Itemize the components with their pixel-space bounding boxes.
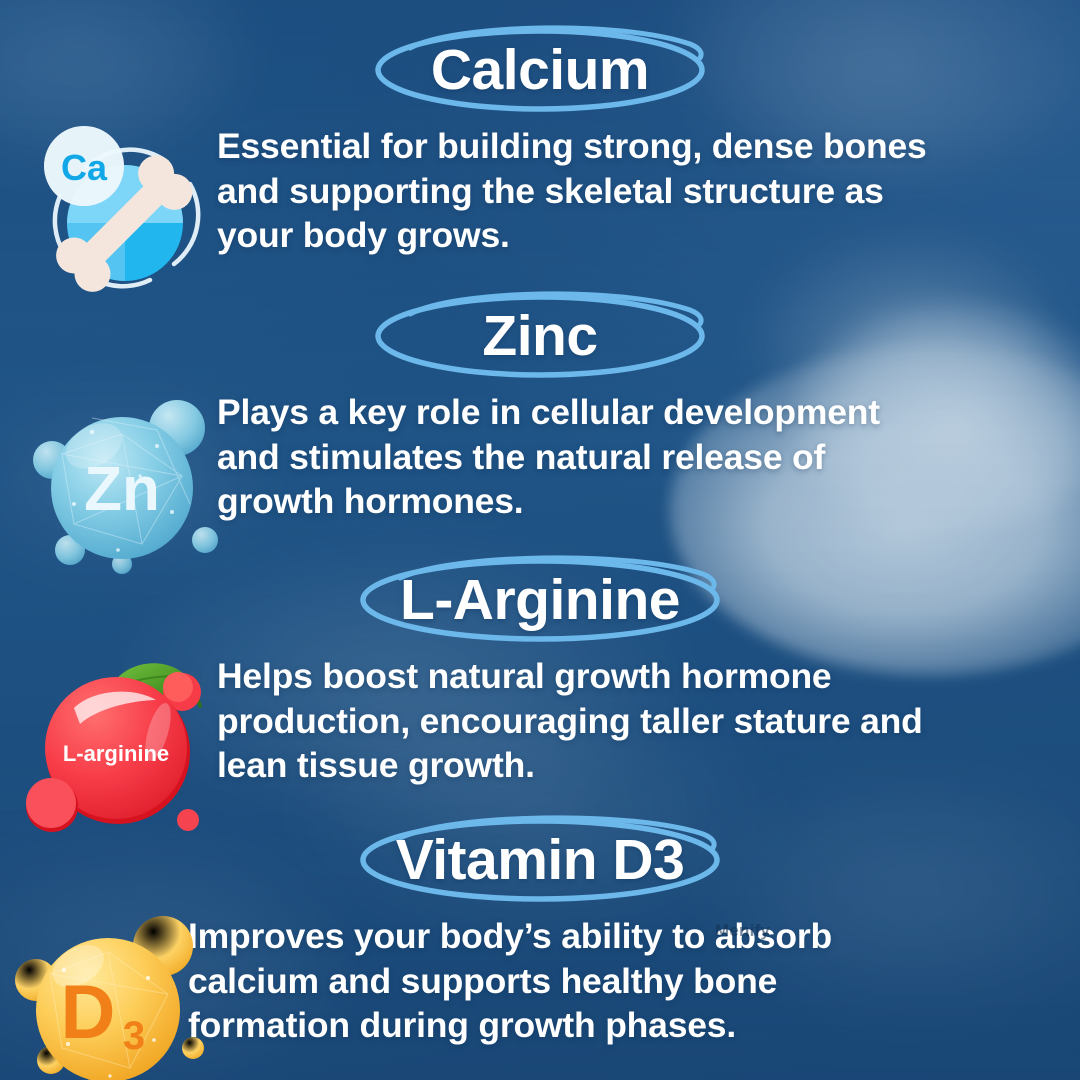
heading-zinc-label: Zinc <box>482 308 597 365</box>
body-d3: Improves your body’s ability to absorb c… <box>188 908 918 1048</box>
section-calcium: Calcium <box>0 22 1080 303</box>
body-zinc: Plays a key role in cellular development… <box>217 384 947 524</box>
vitamin-d3-droplet-icon: D 3 <box>8 908 213 1080</box>
row-d3: D 3 Improves your body’s ability to abso… <box>0 908 1080 1080</box>
calcium-symbol-label: Ca <box>61 147 108 188</box>
heading-calcium-label: Calcium <box>431 42 649 99</box>
heading-arginine-label: L-Arginine <box>400 572 680 629</box>
body-arginine: Helps boost natural growth hormone produ… <box>217 648 947 788</box>
row-zinc: Zn Plays a key role in cellular developm… <box>0 384 1080 569</box>
arginine-symbol-label: L-arginine <box>63 741 169 766</box>
calcium-bone-icon: Ca <box>22 118 227 303</box>
section-d3: Vitamin D3 <box>0 812 1080 1080</box>
heading-zinc: Zinc <box>0 288 1080 384</box>
heading-calcium: Calcium <box>0 22 1080 118</box>
row-arginine: L-arginine Helps boost natural growth ho… <box>0 648 1080 833</box>
d3-subscript-label: 3 <box>123 1014 145 1058</box>
heading-d3: Vitamin D3 <box>0 812 1080 908</box>
d3-symbol-label: D <box>61 970 116 1055</box>
section-arginine: L-Arginine <box>0 552 1080 833</box>
row-calcium: Ca Essential for building strong, dense … <box>0 118 1080 303</box>
content-layer: Calcium <box>0 0 1080 1080</box>
heading-d3-label: Vitamin D3 <box>396 832 685 889</box>
body-calcium: Essential for building strong, dense bon… <box>217 118 947 258</box>
zinc-molecule-icon: Zn <box>22 384 227 569</box>
zinc-symbol-label: Zn <box>84 455 160 524</box>
heading-arginine: L-Arginine <box>0 552 1080 648</box>
infographic-poster: Calcium <box>0 0 1080 1080</box>
l-arginine-fruit-icon: L-arginine <box>22 648 227 833</box>
section-zinc: Zinc <box>0 288 1080 569</box>
